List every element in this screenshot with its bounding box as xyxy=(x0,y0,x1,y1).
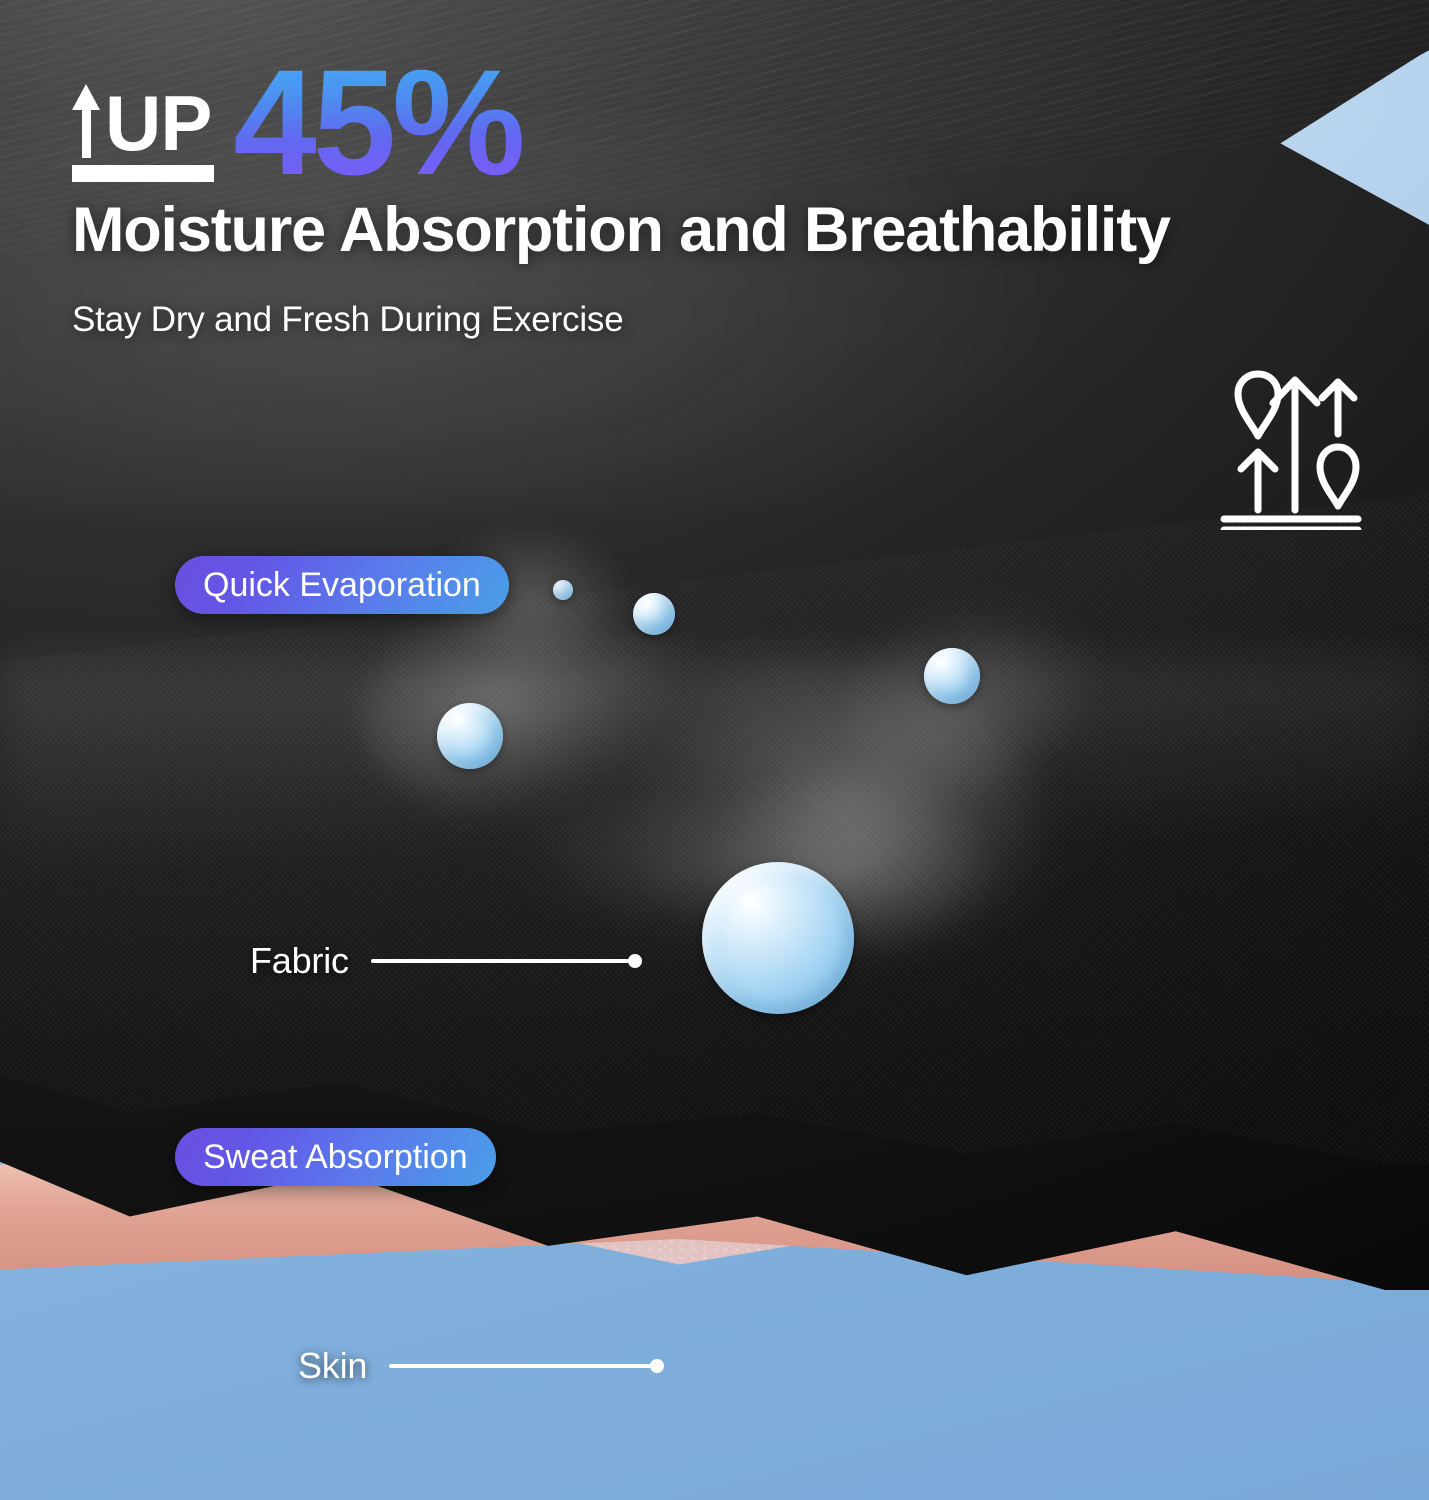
callout-skin-leader xyxy=(389,1359,664,1373)
water-bead xyxy=(633,593,675,635)
page-title: Moisture Absorption and Breathability xyxy=(72,198,1362,262)
up-arrow-icon xyxy=(1273,380,1317,510)
callout-skin: Skin xyxy=(298,1345,664,1387)
percent-value: 45% xyxy=(233,62,521,182)
infographic-canvas: UP 45% Moisture Absorption and Breathabi… xyxy=(0,0,1429,1500)
callout-fabric-leader xyxy=(371,954,642,968)
up-label: UP xyxy=(105,92,211,156)
headline-block: UP 45% Moisture Absorption and Breathabi… xyxy=(72,62,1362,340)
water-bead xyxy=(702,862,854,1014)
badge-sweat-absorption[interactable]: Sweat Absorption xyxy=(175,1128,496,1186)
up-marker: UP xyxy=(72,82,211,182)
water-bead xyxy=(553,580,573,600)
callout-fabric: Fabric xyxy=(250,940,642,982)
up-underline-bar xyxy=(72,165,214,182)
badge-quick-evaporation[interactable]: Quick Evaporation xyxy=(175,556,509,614)
fabric-highlight xyxy=(0,660,1429,930)
callout-skin-label: Skin xyxy=(298,1345,367,1387)
water-bead xyxy=(437,703,503,769)
up-arrow-icon xyxy=(1322,382,1354,434)
water-bead xyxy=(924,648,980,704)
kicker-row: UP 45% xyxy=(72,62,1362,182)
droplet-icon xyxy=(1320,447,1356,506)
up-arrow-icon xyxy=(72,82,100,156)
page-subtitle: Stay Dry and Fresh During Exercise xyxy=(72,300,1362,340)
callout-fabric-label: Fabric xyxy=(250,940,349,982)
up-arrow-icon xyxy=(1241,452,1275,510)
moisture-wicking-icon xyxy=(1218,370,1364,530)
